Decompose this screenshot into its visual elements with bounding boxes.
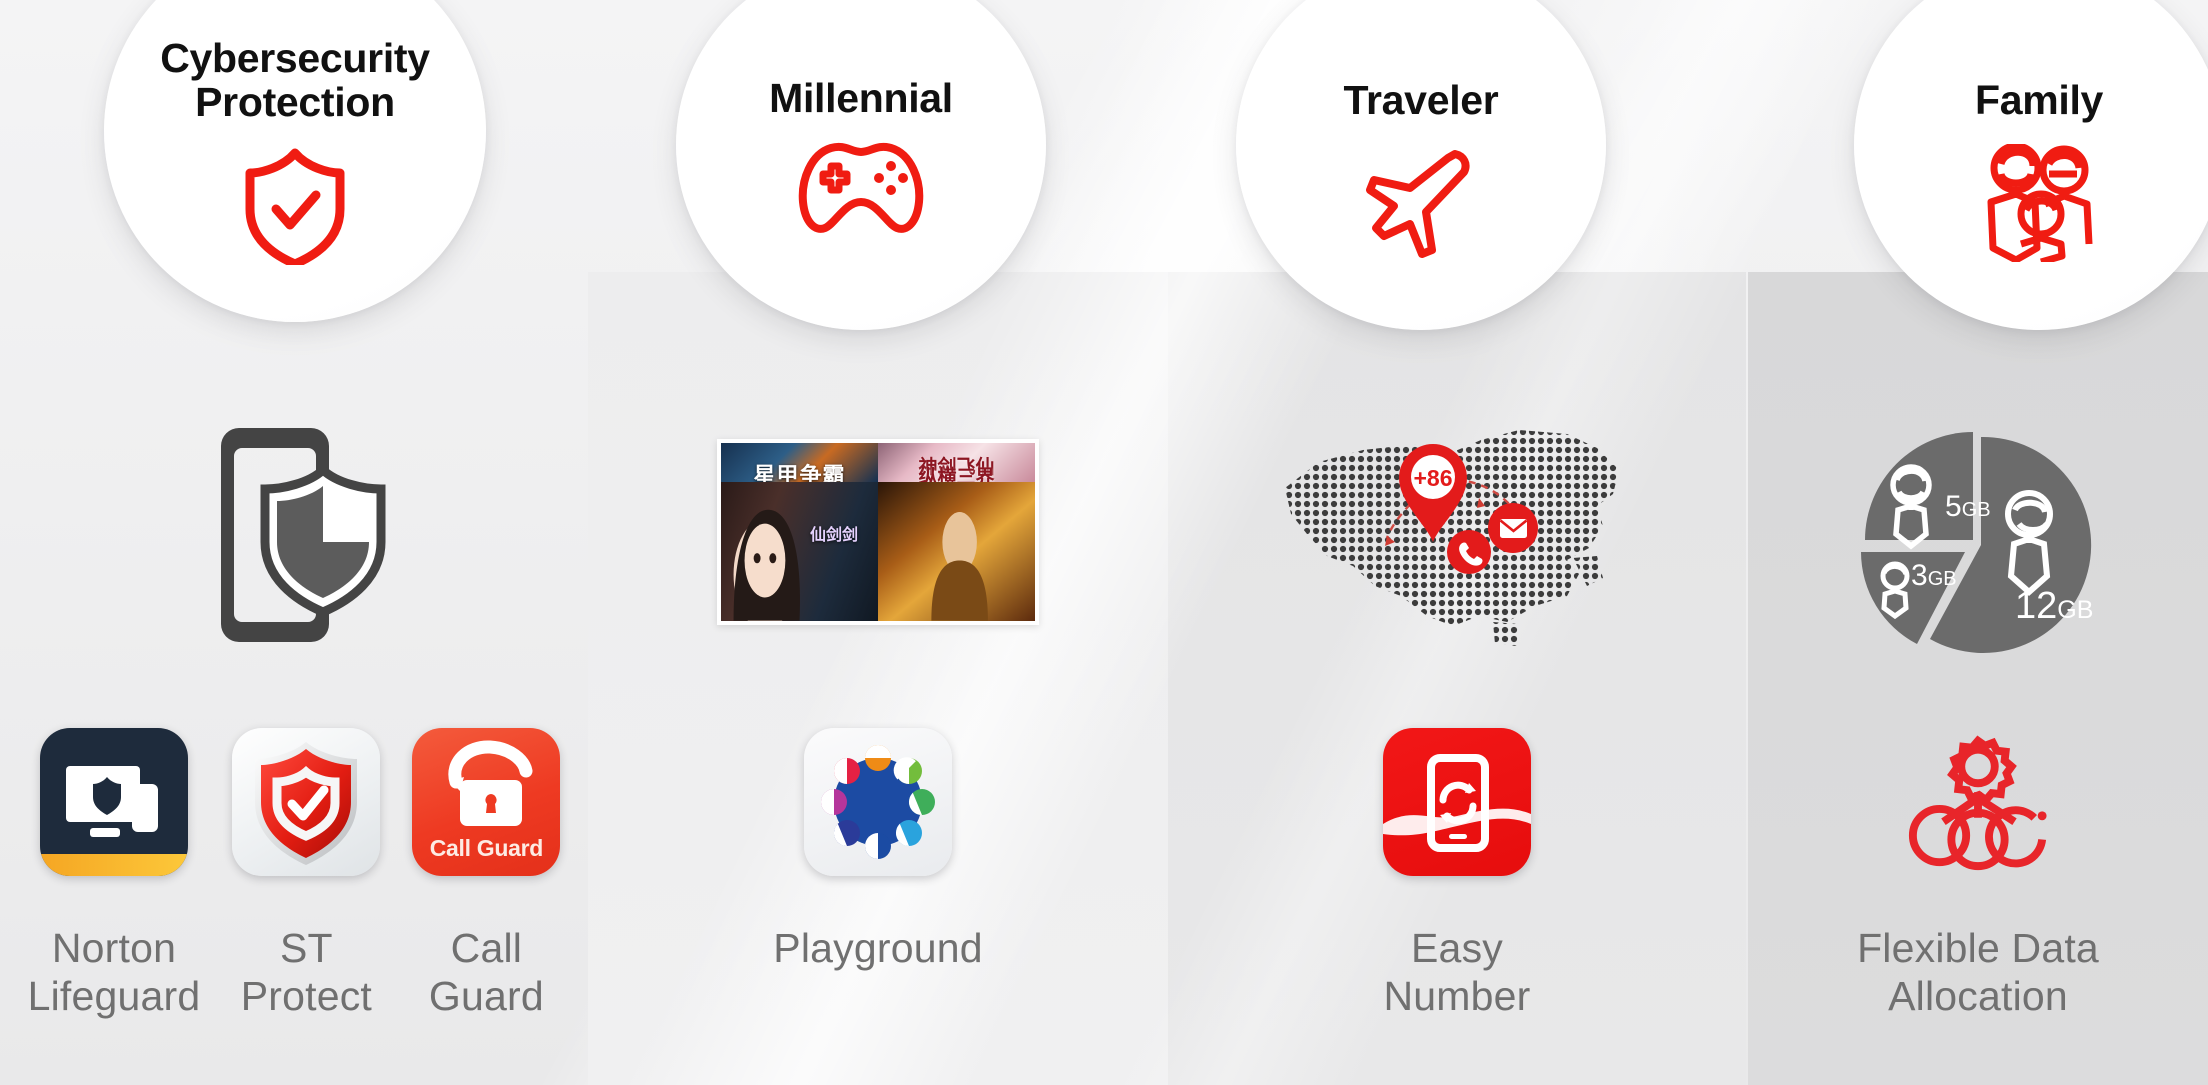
app-label: Call Guard — [429, 924, 544, 1021]
app-label: Flexible Data Allocation — [1857, 924, 2099, 1021]
app-cell-st-protect[interactable]: ST Protect — [232, 728, 380, 1021]
game-tile — [878, 482, 1035, 621]
game-tile: 仙剑剑 — [721, 482, 878, 621]
norton-lifeguard-app-icon[interactable] — [40, 728, 188, 876]
app-row-traveler: Easy Number — [1168, 728, 1746, 1021]
accent-strip — [40, 854, 188, 876]
badge-title: Family — [1975, 78, 2103, 122]
easy-number-app-icon[interactable] — [1383, 728, 1531, 876]
playground-app-icon[interactable] — [804, 728, 952, 876]
app-label: Easy Number — [1383, 924, 1530, 1021]
st-protect-app-icon[interactable] — [232, 728, 380, 876]
call-guard-icon-text: Call Guard — [412, 835, 560, 862]
app-cell-call-guard[interactable]: Call Guard Call Guard — [412, 728, 560, 1021]
phone-sync-glyph — [1383, 728, 1531, 876]
app-label: Playground — [773, 924, 982, 972]
app-cell-flexible-data[interactable]: Flexible Data Allocation — [1857, 728, 2099, 1021]
app-cell-norton-lifeguard[interactable]: Norton Lifeguard — [28, 728, 201, 1021]
monitor-stand-shape — [90, 828, 120, 837]
phone-call-badge — [1447, 530, 1491, 574]
phone-shield-illustration — [0, 420, 588, 650]
app-row-millennial: Playground — [588, 728, 1168, 972]
family-group-icon — [1979, 144, 2099, 262]
game-tile: 神剑飞仙 纵横三界 — [878, 443, 1035, 482]
game-thumbnail-grid: 星甲争霸 神剑飞仙 纵横三界 仙剑剑 — [588, 437, 1168, 627]
playground-glyph — [804, 728, 952, 876]
pie-slice-5gb: 5GB — [1865, 432, 1991, 546]
china-dotted-map-illustration: +86 — [1168, 400, 1746, 670]
badge-title: Millennial — [769, 76, 953, 120]
app-label: Norton Lifeguard — [28, 924, 201, 1021]
pie-label-12gb: 12GB — [2015, 585, 2093, 627]
shield-check-icon — [242, 147, 348, 265]
flexible-data-allocation-icon[interactable] — [1904, 728, 2052, 876]
gamepad-icon — [795, 140, 927, 236]
unlocked-padlock-phone-glyph — [434, 740, 538, 838]
badge-title: Cybersecurity Protection — [104, 36, 486, 125]
app-cell-easy-number[interactable]: Easy Number — [1383, 728, 1531, 1021]
envelope-badge — [1488, 503, 1538, 553]
red-shield-glyph — [232, 728, 380, 876]
map-pin-label: +86 — [1413, 465, 1452, 491]
phone-shape — [132, 784, 158, 832]
gear-network-glyph — [1904, 732, 2052, 872]
badge-title: Traveler — [1344, 78, 1499, 122]
airplane-icon — [1360, 144, 1482, 260]
game-tile: 星甲争霸 — [721, 443, 878, 482]
slide-canvas: Norton Lifeguard — [0, 0, 2208, 1085]
app-row-family: Flexible Data Allocation — [1748, 728, 2208, 1021]
app-label: ST Protect — [241, 924, 372, 1021]
shield-glyph — [92, 776, 122, 816]
data-allocation-pie-chart: 12GB 5GB — [1748, 420, 2208, 670]
call-guard-app-icon[interactable]: Call Guard — [412, 728, 560, 876]
app-cell-playground[interactable]: Playground — [773, 728, 982, 972]
app-row-cybersecurity: Norton Lifeguard — [0, 728, 588, 1021]
